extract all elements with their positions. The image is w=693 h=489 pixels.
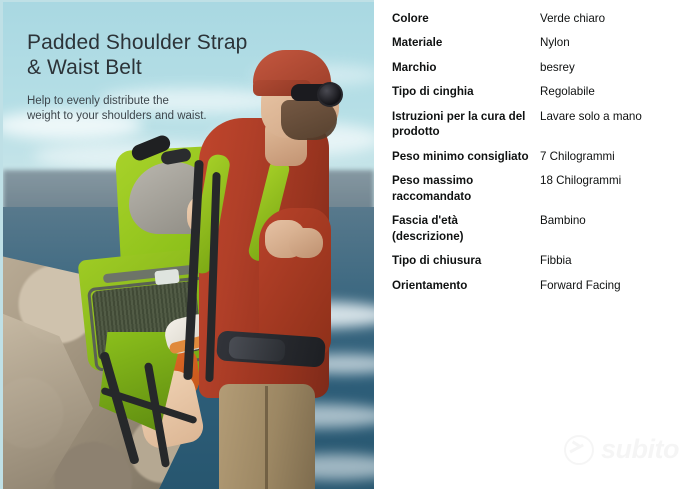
promo-headline-line2: & Waist Belt [27,56,142,79]
sunglasses-lens [317,82,343,107]
table-row: Marchio besrey [392,55,684,80]
promo-subtext: Help to evenly distribute the weight to … [27,94,307,124]
spec-label: Peso massimo raccomandato [392,169,540,209]
spec-label: Materiale [392,31,540,56]
spec-label: Peso minimo consigliato [392,144,540,169]
spec-label: Tipo di chiusura [392,249,540,274]
spec-value: Lavare solo a mano [540,104,684,144]
spec-label: Fascia d'età (descrizione) [392,209,540,249]
promo-headline-line1: Padded Shoulder Strap [27,31,247,54]
specifications-table-body: Colore Verde chiaro Materiale Nylon Marc… [392,6,684,298]
spec-value: besrey [540,55,684,80]
promo-subtext-line1: Help to evenly distribute the [27,95,169,107]
spec-value: Bambino [540,209,684,249]
subito-logo-icon [564,435,594,465]
spec-label: Colore [392,6,540,31]
table-row: Orientamento Forward Facing [392,273,684,298]
spec-label: Tipo di cinghia [392,80,540,105]
product-listing-image: Padded Shoulder Strap & Waist Belt Help … [0,0,693,489]
spec-value: Regolabile [540,80,684,105]
table-row: Tipo di chiusura Fibbia [392,249,684,274]
product-specifications-panel: Colore Verde chiaro Materiale Nylon Marc… [374,0,693,489]
table-row: Peso minimo consigliato 7 Chilogrammi [392,144,684,169]
table-row: Fascia d'età (descrizione) Bambino [392,209,684,249]
promo-text-overlay: Padded Shoulder Strap & Waist Belt Help … [27,30,307,124]
watermark-text: subito [601,434,679,465]
table-row: Colore Verde chiaro [392,6,684,31]
spec-value: 7 Chilogrammi [540,144,684,169]
subito-watermark: subito [564,434,679,465]
buckle-icon [154,269,179,285]
promo-headline: Padded Shoulder Strap & Waist Belt [27,30,307,80]
spec-label: Marchio [392,55,540,80]
promo-subtext-line2: weight to your shoulders and waist. [27,110,207,122]
table-row: Peso massimo raccomandato 18 Chilogrammi [392,169,684,209]
table-row: Tipo di cinghia Regolabile [392,80,684,105]
product-photo: Padded Shoulder Strap & Waist Belt Help … [3,2,374,489]
waist-belt-pad [228,336,285,362]
table-row: Istruzioni per la cura del prodotto Lava… [392,104,684,144]
spec-label: Orientamento [392,273,540,298]
spec-value: Forward Facing [540,273,684,298]
spec-value: Fibbia [540,249,684,274]
spec-value: 18 Chilogrammi [540,169,684,209]
specifications-table: Colore Verde chiaro Materiale Nylon Marc… [392,6,684,298]
pants-seam [265,386,268,489]
spec-value: Verde chiaro [540,6,684,31]
spec-value: Nylon [540,31,684,56]
table-row: Materiale Nylon [392,31,684,56]
product-photo-panel: Padded Shoulder Strap & Waist Belt Help … [0,0,374,489]
man-hand [289,228,323,258]
spec-label: Istruzioni per la cura del prodotto [392,104,540,144]
